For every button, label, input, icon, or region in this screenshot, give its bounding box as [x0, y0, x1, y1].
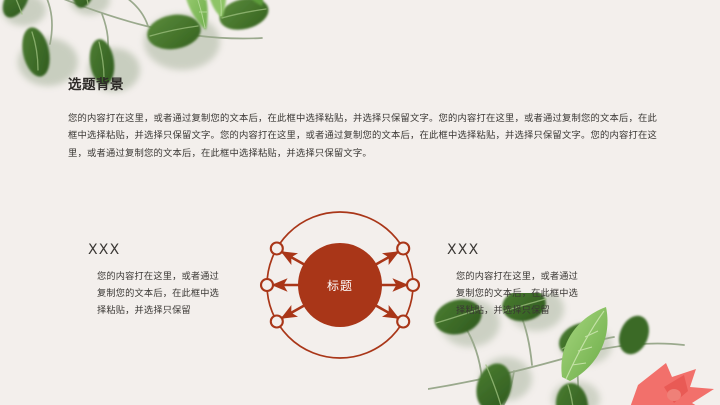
slide-canvas: 选题背景 您的内容打在这里，或者通过复制您的文本后，在此框中选择粘贴，并选择只保… — [0, 0, 720, 405]
light-leaf-vein-group — [188, 0, 221, 28]
stem-group — [16, 0, 262, 60]
body-paragraph: 您的内容打在这里，或者通过复制您的文本后，在此框中选择粘贴，并选择只保留文字。您… — [68, 110, 657, 162]
content-block-right: XXX 您的内容打在这里，或者通过复制您的文本后，在此框中选择粘贴，并选择只保留 — [447, 243, 602, 319]
pink-flower-bud-decoration — [150, 0, 280, 76]
diagram-node-nw[interactable] — [271, 243, 283, 255]
diagram-node-se[interactable] — [397, 316, 409, 328]
leaf-branch-decoration-top-left — [0, 0, 276, 100]
diagram-center-circle[interactable] — [298, 243, 382, 327]
leaf-vein-group — [10, 0, 266, 78]
light-leaf-group — [183, 0, 263, 30]
coral-flower-group — [628, 363, 714, 405]
leaf-group — [0, 0, 272, 86]
content-block-left-title: XXX — [88, 243, 243, 257]
diagram-node-sw[interactable] — [271, 316, 283, 328]
content-block-right-body: 您的内容打在这里，或者通过复制您的文本后，在此框中选择粘贴，并选择只保留 — [456, 268, 581, 319]
stem-group-br — [428, 313, 684, 405]
light-leaf-vein — [566, 311, 604, 379]
page-title: 选题背景 — [68, 79, 124, 93]
diagram-node-ne[interactable] — [397, 243, 409, 255]
diagram-node-w[interactable] — [261, 279, 273, 291]
radial-diagram — [252, 197, 428, 373]
content-block-left-body: 您的内容打在这里，或者通过复制您的文本后，在此框中选择粘贴，并选择只保留 — [97, 268, 222, 319]
content-block-right-title: XXX — [447, 243, 602, 257]
content-block-left: XXX 您的内容打在这里，或者通过复制您的文本后，在此框中选择粘贴，并选择只保留 — [88, 243, 243, 319]
diagram-node-e[interactable] — [407, 279, 419, 291]
